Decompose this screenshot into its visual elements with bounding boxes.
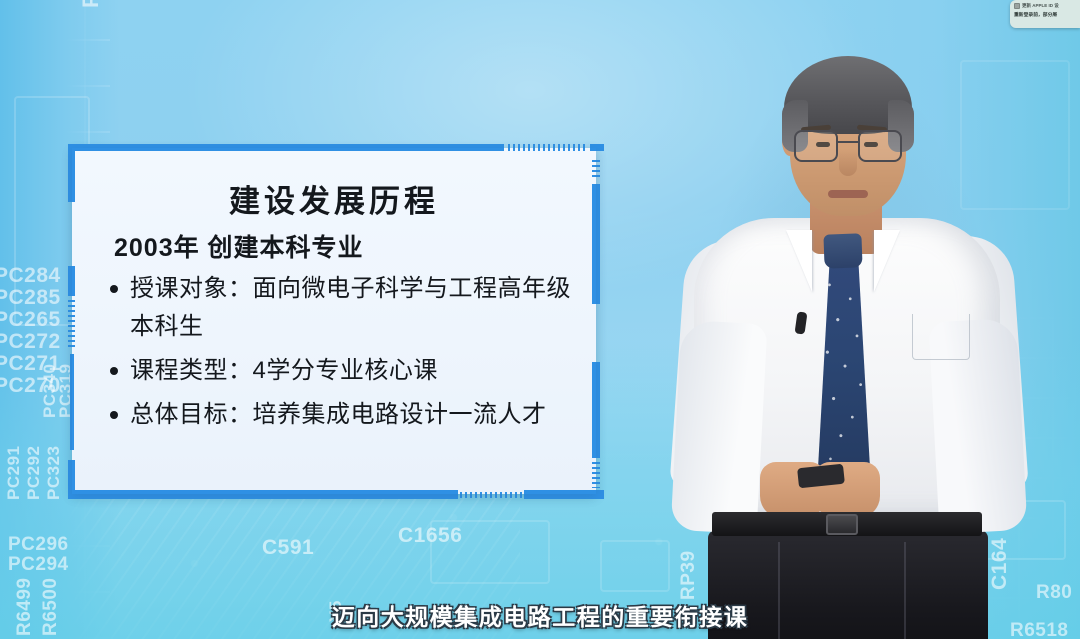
presenter-tie-knot [823,233,862,268]
presenter [668,22,1028,639]
bullet-text: 总体目标：培养集成电路设计一流人才 [130,396,547,434]
presenter-collar-right [874,230,900,292]
presenter-arm-left [671,320,768,534]
presenter-mouth [828,190,868,198]
video-frame: PR350 PC284 PC285 PC265 PC272 PC271 PC27… [0,0,1080,639]
notification-title: 更新 APPLE ID 设 [1022,3,1059,9]
notification-header: 更新 APPLE ID 设 [1014,3,1077,9]
bullet-dot-icon [110,285,118,293]
bullet-dot-icon [110,411,118,419]
presentation-slide[interactable]: 建设发展历程 2003年 创建本科专业 授课对象：面向微电子科学与工程高年级本科… [62,138,606,504]
slide-subheading: 2003年 创建本科专业 [114,228,584,264]
bullet-dot-icon [110,367,118,375]
circuit-chip-outline [430,520,550,584]
video-caption: 迈向大规模集成电路工程的重要衔接课 [0,598,1080,632]
glasses-bridge [838,141,858,143]
presenter-nose [839,150,857,176]
system-notification[interactable]: 更新 APPLE ID 设 重新登录前，部分㞕 [1010,0,1080,28]
notification-body: 重新登录前，部分㞕 [1014,11,1077,18]
glasses-lens-left [794,130,838,162]
bullet-text: 授课对象：面向微电子科学与工程高年级本科生 [130,270,588,346]
slide-content: 建设发展历程 2003年 创建本科专业 授课对象：面向微电子科学与工程高年级本科… [72,148,596,494]
presenter-shirt-pocket [912,314,970,360]
glasses-lens-right [858,130,902,162]
slide-bullet-list: 授课对象：面向微电子科学与工程高年级本科生 课程类型：4学分专业核心课 总体目标… [106,270,588,440]
circuit-chip-outline [600,540,670,592]
list-item: 授课对象：面向微电子科学与工程高年级本科生 [106,270,588,346]
bullet-text: 课程类型：4学分专业核心课 [130,352,438,390]
list-item: 总体目标：培养集成电路设计一流人才 [106,396,588,434]
slide-title: 建设发展历程 [72,176,596,221]
presenter-belt-buckle [826,514,858,535]
app-icon [1014,3,1020,9]
presenter-collar-left [786,230,812,292]
list-item: 课程类型：4学分专业核心课 [106,352,588,390]
